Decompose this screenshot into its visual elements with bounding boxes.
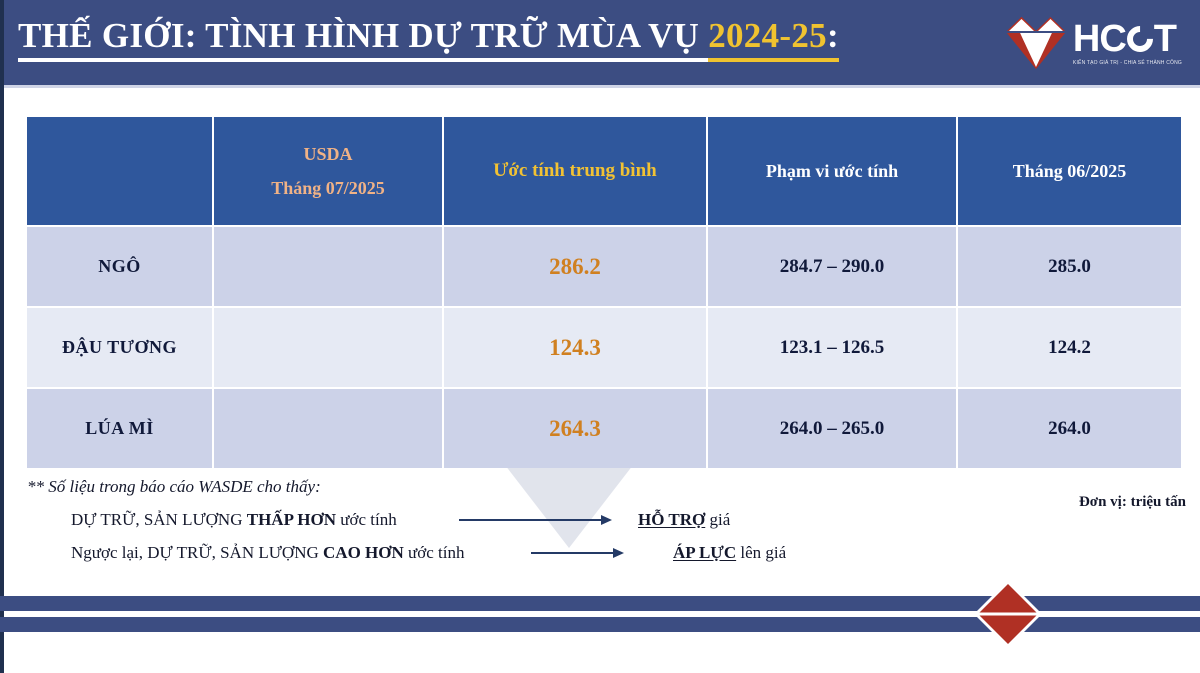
hct-logo: HCT KIẾN TẠO GIÁ TRỊ - CHIA SẺ THÀNH CÔN… <box>1005 12 1182 74</box>
arrow-right-icon <box>459 511 612 529</box>
cell-average: 124.3 <box>444 308 708 389</box>
logo-brand-t: T <box>1154 20 1176 58</box>
arrow-shaft <box>459 519 602 521</box>
rule-result-pressure: ÁP LỰC lên giá <box>673 543 786 563</box>
cell-previous: 264.0 <box>958 389 1181 468</box>
stocks-estimate-table: USDA Tháng 07/2025 Ước tính trung bình P… <box>27 117 1181 468</box>
column-header-previous-month: Tháng 06/2025 <box>958 117 1181 227</box>
cell-usda <box>214 389 444 468</box>
cell-previous: 285.0 <box>958 227 1181 308</box>
logo-wordmark: HCT KIẾN TẠO GIÁ TRỊ - CHIA SẺ THÀNH CÔN… <box>1073 20 1182 66</box>
cell-commodity: ĐẬU TƯƠNG <box>27 308 214 389</box>
arrow-right-icon <box>531 544 624 562</box>
table-body: NGÔ 286.2 284.7 – 290.0 285.0 ĐẬU TƯƠNG … <box>27 227 1181 468</box>
logo-brand-text: HCT <box>1073 20 1182 58</box>
diamond-icon <box>972 578 1044 650</box>
column-header-usda: USDA Tháng 07/2025 <box>214 117 444 227</box>
slide-header-band: THẾ GIỚI: TÌNH HÌNH DỰ TRỮ MÙA VỤ 2024-2… <box>4 0 1200 88</box>
rule-result-support-emphasis: HỖ TRỢ <box>638 510 705 529</box>
table-header-row: USDA Tháng 07/2025 Ước tính trung bình P… <box>27 117 1181 227</box>
cell-usda <box>214 227 444 308</box>
cell-range: 284.7 – 290.0 <box>708 227 958 308</box>
footnote-lead-text: ** Số liệu trong báo cáo WASDE cho thấy: <box>27 477 1027 497</box>
cell-previous: 124.2 <box>958 308 1181 389</box>
rule-result-support-post: giá <box>705 510 730 529</box>
page-title-colon: : <box>827 16 839 62</box>
cell-commodity: NGÔ <box>27 227 214 308</box>
rule-condition-pressure-post: ước tính <box>404 543 465 562</box>
cell-average: 286.2 <box>444 227 708 308</box>
logo-brand-hc: HC <box>1073 20 1126 58</box>
column-header-estimate-range: Phạm vi ước tính <box>708 117 958 227</box>
rule-condition-support-emphasis: THẤP HƠN <box>247 510 336 529</box>
rule-condition-support-post: ước tính <box>336 510 397 529</box>
rule-result-pressure-emphasis: ÁP LỰC <box>673 543 736 562</box>
column-header-commodity <box>27 117 214 227</box>
arrow-shaft <box>531 552 614 554</box>
rule-row-support: DỰ TRỮ, SẢN LƯỢNG THẤP HƠN ước tính HỖ T… <box>71 510 1027 530</box>
rule-condition-pressure-emphasis: CAO HƠN <box>323 543 404 562</box>
rule-condition-pressure: Ngược lại, DỰ TRỮ, SẢN LƯỢNG CAO HƠN ước… <box>71 543 531 563</box>
gem-icon <box>1005 15 1067 71</box>
header-underline <box>4 85 1200 88</box>
footnotes-block: ** Số liệu trong báo cáo WASDE cho thấy:… <box>27 477 1027 576</box>
cell-range: 123.1 – 126.5 <box>708 308 958 389</box>
rule-row-pressure: Ngược lại, DỰ TRỮ, SẢN LƯỢNG CAO HƠN ước… <box>71 543 1027 563</box>
cell-usda <box>214 308 444 389</box>
table-header: USDA Tháng 07/2025 Ước tính trung bình P… <box>27 117 1181 227</box>
cell-average: 264.3 <box>444 389 708 468</box>
arrow-head <box>601 515 612 525</box>
slide-canvas: THẾ GIỚI: TÌNH HÌNH DỰ TRỮ MÙA VỤ 2024-2… <box>0 0 1200 673</box>
rule-condition-support-pre: DỰ TRỮ, SẢN LƯỢNG <box>71 510 247 529</box>
arrow-head <box>613 548 624 558</box>
table-row: ĐẬU TƯƠNG 124.3 123.1 – 126.5 124.2 <box>27 308 1181 389</box>
table-row: LÚA MÌ 264.3 264.0 – 265.0 264.0 <box>27 389 1181 468</box>
cell-range: 264.0 – 265.0 <box>708 389 958 468</box>
rule-condition-support: DỰ TRỮ, SẢN LƯỢNG THẤP HƠN ước tính <box>71 510 459 530</box>
left-edge-accent <box>0 0 4 673</box>
rule-result-support: HỖ TRỢ giá <box>638 510 730 530</box>
column-header-usda-line1: USDA <box>214 137 442 171</box>
logo-tagline: KIẾN TẠO GIÁ TRỊ - CHIA SẺ THÀNH CÔNG <box>1073 61 1182 66</box>
bottom-decoration <box>0 596 1200 640</box>
table-row: NGÔ 286.2 284.7 – 290.0 285.0 <box>27 227 1181 308</box>
column-header-average-estimate: Ước tính trung bình <box>444 117 708 227</box>
page-title-year: 2024-25 <box>708 16 827 62</box>
unit-label: Đơn vị: triệu tấn <box>1079 494 1186 511</box>
rule-condition-pressure-pre: Ngược lại, DỰ TRỮ, SẢN LƯỢNG <box>71 543 323 562</box>
column-header-usda-line2: Tháng 07/2025 <box>214 171 442 205</box>
cell-commodity: LÚA MÌ <box>27 389 214 468</box>
logo-o-ring-icon <box>1121 21 1158 58</box>
rule-result-pressure-post: lên giá <box>736 543 786 562</box>
page-title-main: THẾ GIỚI: TÌNH HÌNH DỰ TRỮ MÙA VỤ <box>18 16 708 62</box>
page-title: THẾ GIỚI: TÌNH HÌNH DỰ TRỮ MÙA VỤ 2024-2… <box>18 17 839 56</box>
